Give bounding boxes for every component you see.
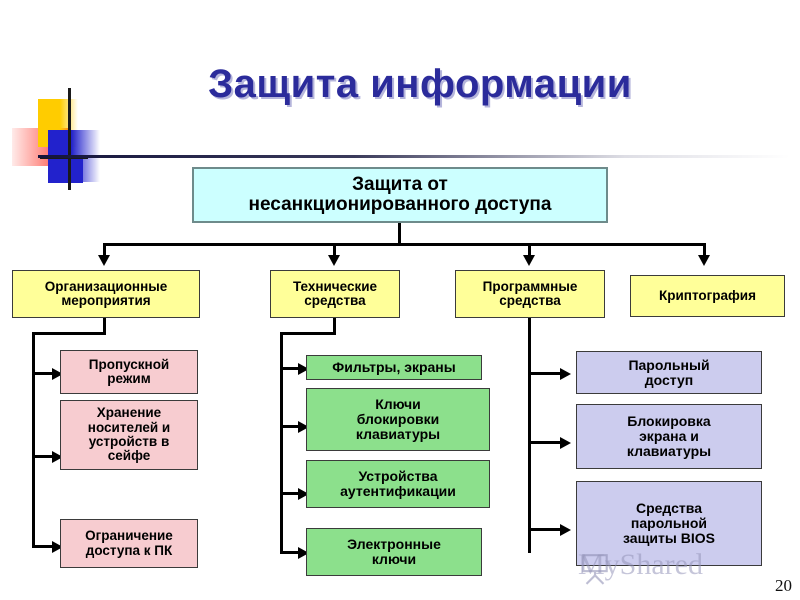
col1-trunk xyxy=(32,332,35,548)
arrow-right-col3-2 xyxy=(560,437,571,449)
distributor-bar xyxy=(105,243,706,246)
logo-blue-foot-shape xyxy=(48,155,83,183)
col3-item1-line1: Парольный xyxy=(628,358,709,373)
col1-item2-line3: устройств в xyxy=(88,435,170,449)
col3-branch-2 xyxy=(528,441,564,444)
category-1-line2: мероприятия xyxy=(45,294,168,308)
category-4-line1: Криптография xyxy=(659,289,756,303)
page-number: 20 xyxy=(775,576,792,596)
category-node-cryptography: Криптография xyxy=(630,275,785,317)
col2-item4-line1: Электронные xyxy=(347,537,441,552)
logo-vertical-line xyxy=(68,88,71,190)
header-divider-rule xyxy=(38,155,790,158)
col2-item3-line1: Устройства xyxy=(340,469,456,484)
col3-trunk xyxy=(528,318,531,553)
col2-item1-line1: Фильтры, экраны xyxy=(332,360,455,375)
col3-item2-line3: клавиатуры xyxy=(627,444,711,459)
arrow-down-4 xyxy=(698,255,710,266)
root-node-line2: несанкционированного доступа xyxy=(249,195,552,215)
col3-item3-line1: Средства xyxy=(623,501,715,516)
col3-item1-line2: доступ xyxy=(628,373,709,388)
leaf-node-blokirovka-ekrana: Блокировка экрана и клавиатуры xyxy=(576,404,762,469)
col2-item2-line2: блокировки xyxy=(356,412,440,427)
col3-item2-line1: Блокировка xyxy=(627,414,711,429)
arrow-right-col3-1 xyxy=(560,368,571,380)
leaf-node-parolnyy-dostup: Парольный доступ xyxy=(576,351,762,394)
presentation-easel-icon xyxy=(578,552,612,586)
arrow-down-3 xyxy=(523,255,535,266)
col3-item3-line3: защиты BIOS xyxy=(623,531,715,546)
col1-item1-line2: режим xyxy=(89,372,170,386)
col1-item3-line2: доступа к ПК xyxy=(85,544,173,558)
category-node-software: Программные средства xyxy=(455,270,605,318)
leaf-node-hranenie-nositeley: Хранение носителей и устройств в сейфе xyxy=(60,400,198,470)
col2-item2-line1: Ключи xyxy=(356,397,440,412)
leaf-node-ustroystva-autentifikacii: Устройства аутентификации xyxy=(306,460,490,508)
root-node-line1: Защита от xyxy=(249,175,552,195)
category-3-line1: Программные xyxy=(483,280,578,294)
col1-item2-line2: носителей и xyxy=(88,421,170,435)
slide-canvas: Защита информации Защита от несанкционир… xyxy=(0,0,800,600)
leaf-node-propusknoy-rezhim: Пропускной режим xyxy=(60,350,198,394)
col3-branch-1 xyxy=(528,372,564,375)
leaf-node-ogranichenie-dostupa: Ограничение доступа к ПК xyxy=(60,519,198,568)
leaf-node-klyuchi-blokirovki: Ключи блокировки клавиатуры xyxy=(306,388,490,451)
category-node-organizational: Организационные мероприятия xyxy=(12,270,200,318)
root-node: Защита от несанкционированного доступа xyxy=(192,167,608,223)
leaf-node-elektronnye-klyuchi: Электронные ключи xyxy=(306,528,482,576)
arrow-right-col3-3 xyxy=(560,524,571,536)
col1-item2-line4: сейфе xyxy=(88,449,170,463)
category-3-line2: средства xyxy=(483,294,578,308)
col3-item2-line2: экрана и xyxy=(627,429,711,444)
category-1-line1: Организационные xyxy=(45,280,168,294)
col1-item3-line1: Ограничение xyxy=(85,529,173,543)
leaf-node-filtry-ekrany: Фильтры, экраны xyxy=(306,355,482,380)
col2-item3-line2: аутентификации xyxy=(340,484,456,499)
page-title: Защита информации xyxy=(120,62,720,107)
category-2-line1: Технические xyxy=(293,280,377,294)
root-stem xyxy=(398,223,401,245)
col1-item1-line1: Пропускной xyxy=(89,358,170,372)
col3-branch-3 xyxy=(528,528,564,531)
col2-elbow xyxy=(280,332,336,335)
arrow-down-2 xyxy=(328,255,340,266)
col1-elbow xyxy=(32,332,106,335)
col2-item4-line2: ключи xyxy=(347,552,441,567)
category-node-technical: Технические средства xyxy=(270,270,400,318)
arrow-down-1 xyxy=(98,255,110,266)
category-2-line2: средства xyxy=(293,294,377,308)
col2-item2-line3: клавиатуры xyxy=(356,427,440,442)
col3-item3-line2: парольной xyxy=(623,516,715,531)
col2-trunk xyxy=(280,332,283,554)
col1-item2-line1: Хранение xyxy=(88,406,170,420)
